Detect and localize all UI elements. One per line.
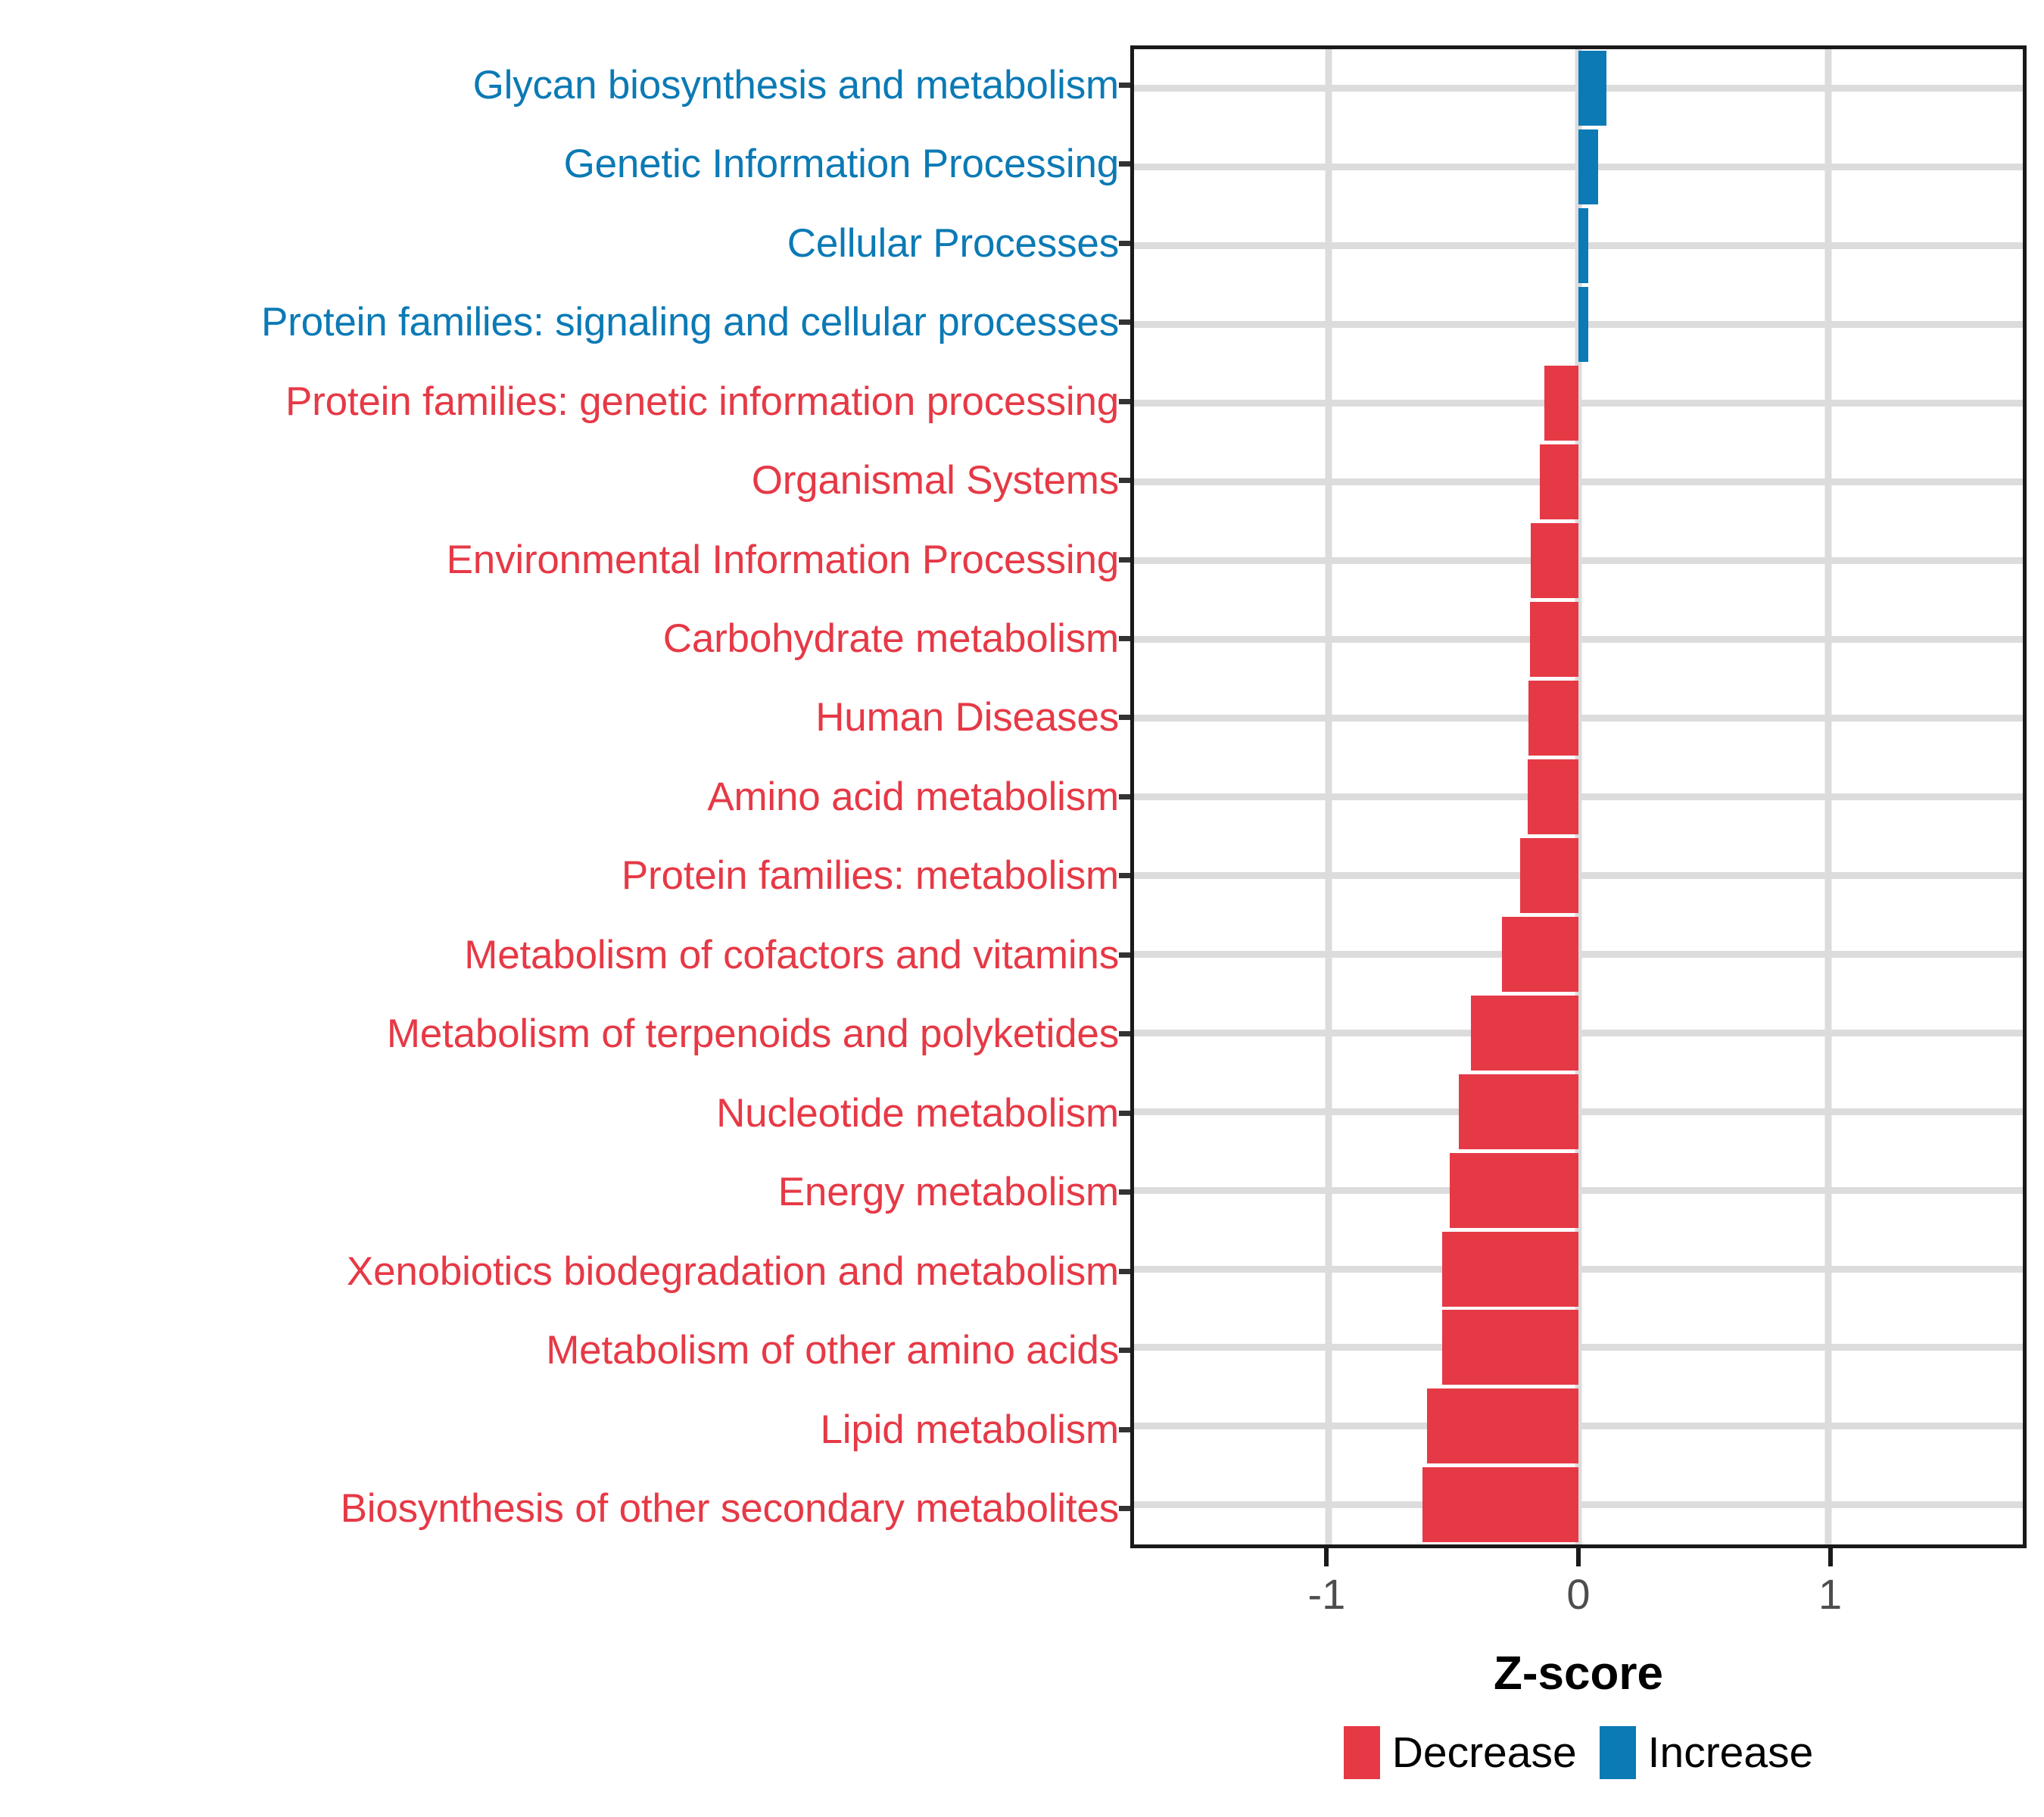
x-axis-tick	[1828, 1548, 1833, 1566]
bar-row	[1134, 1388, 2023, 1463]
bar-row	[1134, 444, 2023, 519]
category-label: Xenobiotics biodegradation and metabolis…	[347, 1251, 1119, 1292]
bar-row	[1134, 208, 2023, 283]
bar[interactable]	[1502, 917, 1578, 992]
y-axis-tick	[1119, 161, 1130, 167]
bar-row	[1134, 602, 2023, 677]
category-label: Protein families: metabolism	[622, 856, 1119, 896]
bar-row	[1134, 129, 2023, 204]
y-axis-tick	[1119, 636, 1130, 641]
x-axis-title: Z-score	[1130, 1647, 2027, 1700]
bar-row	[1134, 1310, 2023, 1385]
bar-series	[1134, 49, 2023, 1544]
category-label: Metabolism of terpenoids and polyketides	[387, 1014, 1119, 1054]
horizontal-gridline	[1134, 1187, 2023, 1194]
horizontal-gridline	[1134, 951, 2023, 958]
bar-row	[1134, 681, 2023, 756]
y-axis-tick	[1119, 1031, 1130, 1036]
category-label: Nucleotide metabolism	[716, 1093, 1119, 1133]
bar-row	[1134, 366, 2023, 441]
bar-row	[1134, 287, 2023, 362]
y-axis-tick	[1119, 873, 1130, 878]
horizontal-gridline	[1134, 557, 2023, 564]
plot-area	[1134, 49, 2023, 1544]
y-axis-tick	[1119, 83, 1130, 88]
category-label: Metabolism of other amino acids	[546, 1330, 1119, 1370]
legend-item[interactable]: Decrease	[1344, 1726, 1577, 1779]
y-axis-tick	[1119, 241, 1130, 246]
y-axis-tick	[1119, 557, 1130, 563]
horizontal-gridline	[1134, 793, 2023, 800]
y-axis-tick	[1119, 1506, 1130, 1511]
horizontal-gridline	[1134, 872, 2023, 879]
y-axis-ticks	[1119, 45, 1130, 1548]
x-axis-tick-label: 0	[1566, 1569, 1590, 1619]
bar-row	[1134, 1074, 2023, 1149]
category-label: Glycan biosynthesis and metabolism	[473, 65, 1119, 105]
horizontal-gridline	[1134, 400, 2023, 407]
bar[interactable]	[1427, 1388, 1578, 1463]
y-axis-tick	[1119, 319, 1130, 325]
legend: DecreaseIncrease	[1130, 1726, 2027, 1779]
category-label: Biosynthesis of other secondary metaboli…	[341, 1488, 1119, 1529]
horizontal-gridline	[1134, 1423, 2023, 1429]
bar[interactable]	[1528, 759, 1578, 834]
bar-row	[1134, 759, 2023, 834]
category-label: Genetic Information Processing	[564, 144, 1119, 184]
bar[interactable]	[1578, 208, 1588, 283]
y-axis-tick	[1119, 1189, 1130, 1195]
horizontal-gridline	[1134, 715, 2023, 722]
bar[interactable]	[1578, 129, 1598, 204]
y-axis-tick	[1119, 399, 1130, 404]
bar[interactable]	[1459, 1074, 1578, 1149]
bar[interactable]	[1531, 523, 1578, 598]
bar[interactable]	[1544, 366, 1578, 441]
horizontal-gridline	[1134, 1344, 2023, 1351]
y-axis-tick	[1119, 794, 1130, 799]
y-axis-tick	[1119, 1111, 1130, 1116]
y-axis-tick	[1119, 478, 1130, 483]
category-label: Human Diseases	[815, 697, 1119, 737]
horizontal-gridline	[1134, 1108, 2023, 1115]
bar-row	[1134, 1467, 2023, 1542]
category-label: Energy metabolism	[778, 1172, 1119, 1212]
horizontal-gridline	[1134, 478, 2023, 485]
bar[interactable]	[1528, 681, 1578, 756]
bar-row	[1134, 996, 2023, 1071]
bar-row	[1134, 917, 2023, 992]
horizontal-gridline	[1134, 1266, 2023, 1273]
bar-row	[1134, 1153, 2023, 1228]
legend-label: Increase	[1648, 1728, 1814, 1778]
legend-label: Decrease	[1392, 1728, 1577, 1778]
category-label: Amino acid metabolism	[707, 777, 1119, 817]
x-axis-tick-label: -1	[1308, 1569, 1346, 1619]
x-axis-tick	[1576, 1548, 1581, 1566]
x-axis-tick-label: 1	[1818, 1569, 1842, 1619]
plot-panel	[1130, 45, 2027, 1548]
x-axis: -101	[1130, 1548, 2027, 1639]
category-axis-labels: Glycan biosynthesis and metabolismGeneti…	[0, 45, 1119, 1548]
bar[interactable]	[1520, 838, 1578, 913]
bar[interactable]	[1540, 444, 1578, 519]
category-label: Cellular Processes	[787, 223, 1119, 263]
bar-row	[1134, 523, 2023, 598]
category-label: Environmental Information Processing	[447, 540, 1119, 580]
bar[interactable]	[1422, 1467, 1578, 1542]
bar[interactable]	[1578, 51, 1606, 126]
z-score-bar-chart: Glycan biosynthesis and metabolismGeneti…	[0, 0, 2044, 1817]
category-label: Protein families: genetic information pr…	[285, 382, 1119, 422]
category-label: Carbohydrate metabolism	[663, 619, 1119, 659]
y-axis-tick	[1119, 1269, 1130, 1274]
category-label: Metabolism of cofactors and vitamins	[464, 935, 1119, 975]
bar[interactable]	[1530, 602, 1578, 677]
y-axis-tick	[1119, 1427, 1130, 1432]
bar-row	[1134, 51, 2023, 126]
bar[interactable]	[1442, 1232, 1578, 1307]
horizontal-gridline	[1134, 636, 2023, 643]
category-label: Protein families: signaling and cellular…	[261, 302, 1119, 342]
category-label: Organismal Systems	[752, 460, 1119, 500]
bar-row	[1134, 1232, 2023, 1307]
category-label: Lipid metabolism	[821, 1410, 1119, 1450]
horizontal-gridline	[1134, 1501, 2023, 1508]
y-axis-tick	[1119, 952, 1130, 958]
legend-swatch-increase	[1600, 1726, 1636, 1779]
horizontal-gridline	[1134, 1030, 2023, 1036]
bar[interactable]	[1578, 287, 1588, 362]
x-axis-tick	[1324, 1548, 1329, 1566]
legend-swatch-decrease	[1344, 1726, 1380, 1779]
bar[interactable]	[1450, 1153, 1578, 1228]
legend-item[interactable]: Increase	[1600, 1726, 1814, 1779]
bar[interactable]	[1471, 996, 1578, 1071]
y-axis-tick	[1119, 715, 1130, 720]
bar-row	[1134, 838, 2023, 913]
y-axis-tick	[1119, 1348, 1130, 1353]
bar[interactable]	[1442, 1310, 1578, 1385]
